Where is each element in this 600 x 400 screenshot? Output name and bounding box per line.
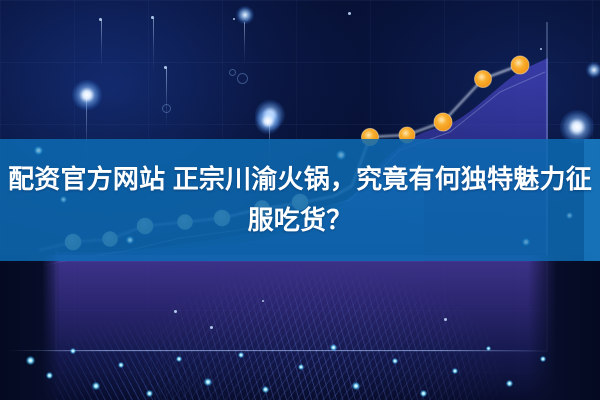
glow-particle [392,358,398,364]
glow-particle [118,362,124,368]
glow-particle [452,368,458,374]
glow-particle [540,356,546,362]
glow-particle [92,382,100,390]
banner-image: 配资官方网站 正宗川渝火锅，究竟有何独特魅力征 服吃货？ [0,0,600,400]
glow-particle [330,344,337,351]
glow-particle [176,356,182,362]
particle-field-bottom [0,0,600,400]
glow-particle [262,300,264,302]
glow-particle [204,378,212,386]
glow-particle [210,326,213,329]
glow-particle [506,380,513,387]
glow-particle [444,318,447,321]
glow-particle [146,390,153,397]
glow-particle [420,390,427,397]
glow-particle [352,382,360,390]
glow-particle [70,348,76,354]
glow-particle [46,372,53,379]
glow-particle [26,356,35,365]
glow-particle [262,386,269,393]
glow-particle [298,364,304,370]
glow-particle [238,352,244,358]
glow-particle [174,310,177,313]
glow-particle [486,346,491,351]
